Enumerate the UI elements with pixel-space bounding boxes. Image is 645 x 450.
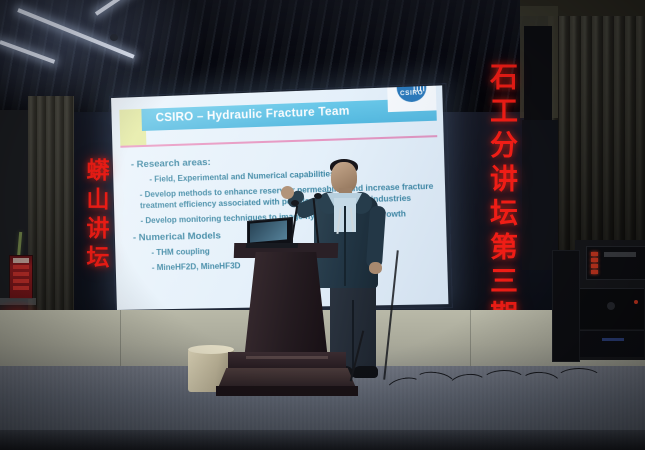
presenter-right-hand (369, 262, 382, 274)
status-led-icon (591, 270, 598, 274)
laptop-base (246, 243, 299, 248)
right-door-glass (524, 26, 552, 122)
right-curtain-shadow (548, 0, 645, 250)
microphone-head (314, 193, 322, 199)
podium-highlight (246, 356, 328, 359)
wall-seam (120, 310, 121, 372)
power-led-icon (634, 300, 638, 304)
fire-extinguisher-cabinet (9, 255, 33, 299)
logo-text: CSIRO (387, 90, 436, 98)
status-led-icon (591, 258, 598, 262)
podium-base-tier (218, 368, 356, 388)
cable-coil (556, 368, 602, 390)
av-display (604, 252, 636, 257)
status-led-icon (591, 264, 598, 268)
csiro-logo: CSIRO (387, 85, 437, 112)
ceiling-fixture (110, 34, 118, 41)
laptop-screen (250, 220, 287, 242)
presenter-zipper (344, 206, 346, 286)
presenter-shoe (352, 366, 378, 378)
cabinet-panel (13, 265, 29, 269)
status-led-icon (591, 252, 598, 256)
cabinet-panel (13, 272, 29, 276)
av-blue-display (602, 338, 624, 341)
podium-base-tier (216, 386, 358, 396)
banner-left: 蟒山讲坛 (78, 158, 112, 274)
lecture-hall-photo: CSIRO – Hydraulic Fracture Team CSIRO - … (0, 0, 645, 450)
av-knob (607, 302, 615, 310)
av-player (580, 330, 644, 357)
floor-foreground-shadow (0, 430, 645, 450)
cabinet-panel (13, 279, 29, 283)
cabinet-panel (13, 286, 29, 290)
microphone-head (291, 200, 299, 206)
presenter-left-hand (281, 186, 294, 199)
banner-right: 石工分讲坛第三期 (482, 62, 522, 334)
wall-seam (470, 310, 471, 372)
podium-body (244, 252, 328, 360)
cabinet-label (13, 258, 29, 263)
loudspeaker (552, 250, 580, 362)
podium-base-tier (228, 352, 346, 370)
right-doorway (522, 120, 558, 270)
